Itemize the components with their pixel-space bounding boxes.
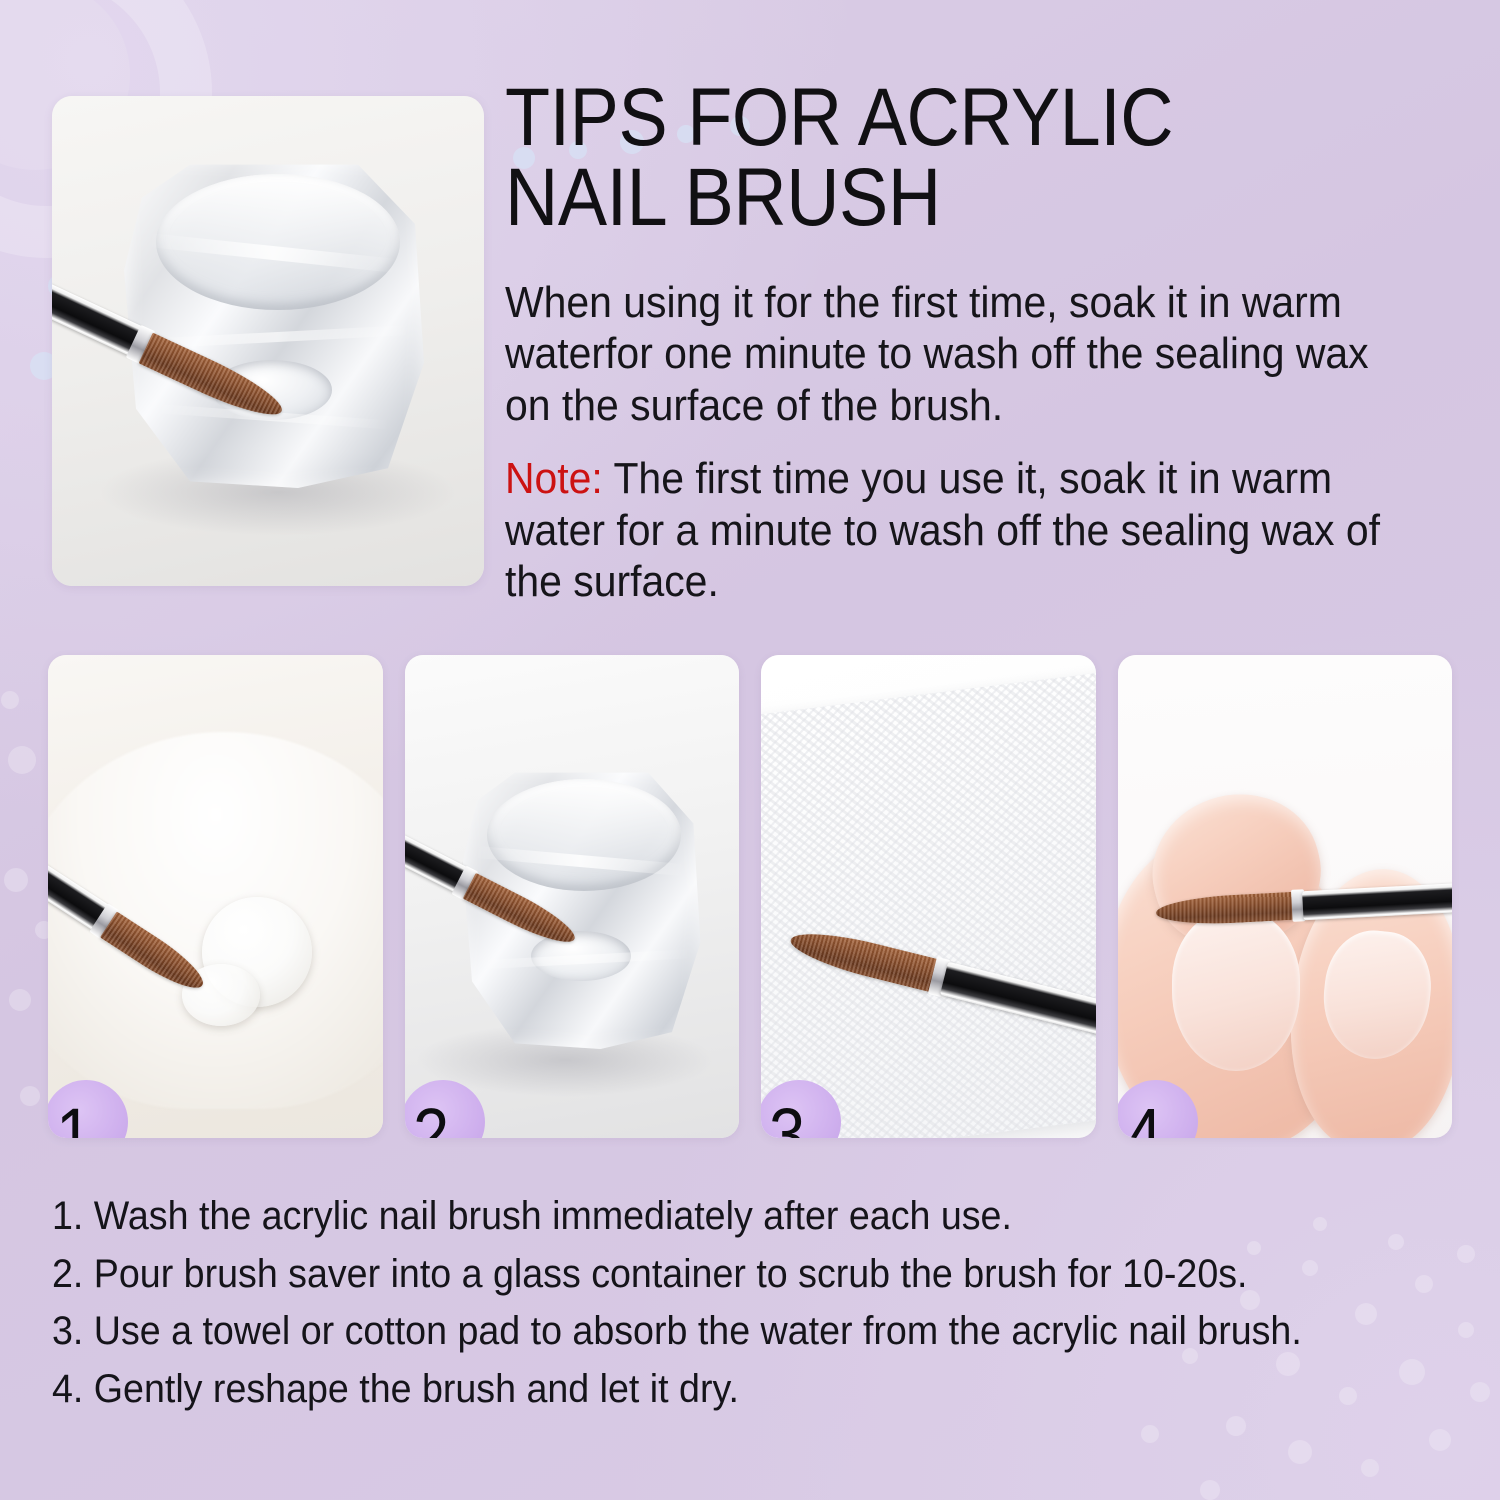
step-photo-3: 3 bbox=[761, 655, 1096, 1138]
instruction-list: 1. Wash the acrylic nail brush immediate… bbox=[52, 1188, 1472, 1418]
step-photo-2: 2 bbox=[405, 655, 740, 1138]
instruction-item: 2. Pour brush saver into a glass contain… bbox=[52, 1246, 1387, 1304]
note-label: Note: bbox=[505, 454, 603, 503]
instruction-item: 1. Wash the acrylic nail brush immediate… bbox=[52, 1188, 1387, 1246]
hero-photo-brush-in-dish bbox=[52, 96, 484, 586]
text-column: TIPS FOR ACRYLIC NAIL BRUSH When using i… bbox=[505, 78, 1470, 608]
step-number-2: 2 bbox=[413, 1098, 449, 1138]
page-title: TIPS FOR ACRYLIC NAIL BRUSH bbox=[505, 78, 1374, 239]
step-number-1: 1 bbox=[56, 1098, 92, 1138]
intro-paragraph: When using it for the first time, soak i… bbox=[505, 277, 1402, 431]
infographic-page: TIPS FOR ACRYLIC NAIL BRUSH When using i… bbox=[0, 0, 1500, 1500]
step-number-3: 3 bbox=[769, 1098, 805, 1138]
step-photo-4: 4 bbox=[1118, 655, 1453, 1138]
step-photo-1: 1 bbox=[48, 655, 383, 1138]
instruction-item: 4. Gently reshape the brush and let it d… bbox=[52, 1361, 1387, 1419]
note-paragraph: Note: The first time you use it, soak it… bbox=[505, 453, 1402, 607]
instruction-item: 3. Use a towel or cotton pad to absorb t… bbox=[52, 1303, 1387, 1361]
step-number-4: 4 bbox=[1126, 1098, 1162, 1138]
note-text: The first time you use it, soak it in wa… bbox=[505, 454, 1380, 606]
step-photo-row: 1 2 bbox=[48, 655, 1452, 1138]
